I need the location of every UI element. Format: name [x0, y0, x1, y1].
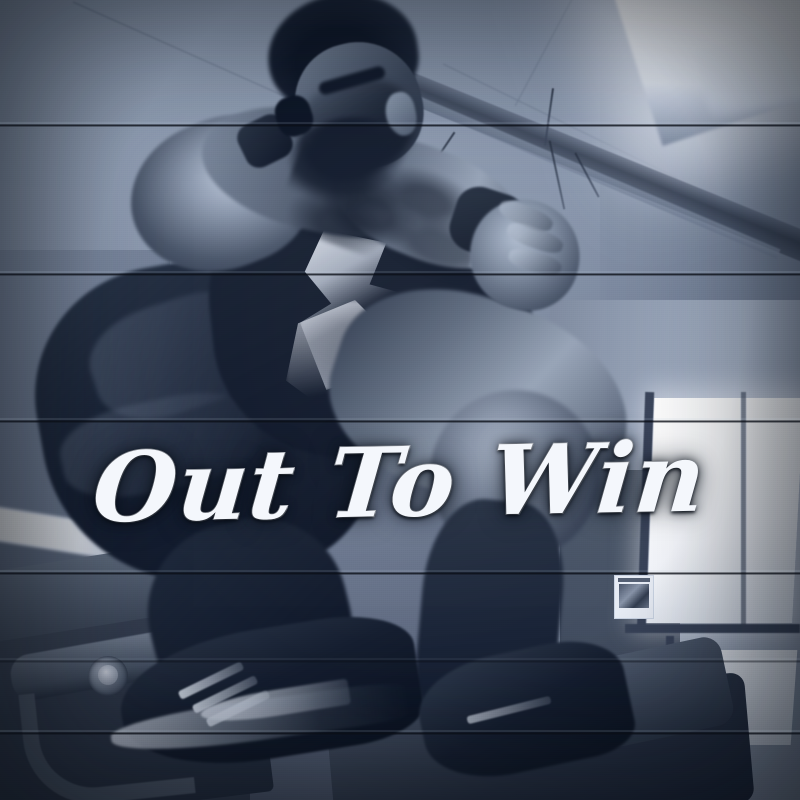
poster-canvas: Out To Win: [0, 0, 800, 800]
athlete-subject: [0, 0, 800, 800]
background-photograph: [0, 0, 800, 800]
